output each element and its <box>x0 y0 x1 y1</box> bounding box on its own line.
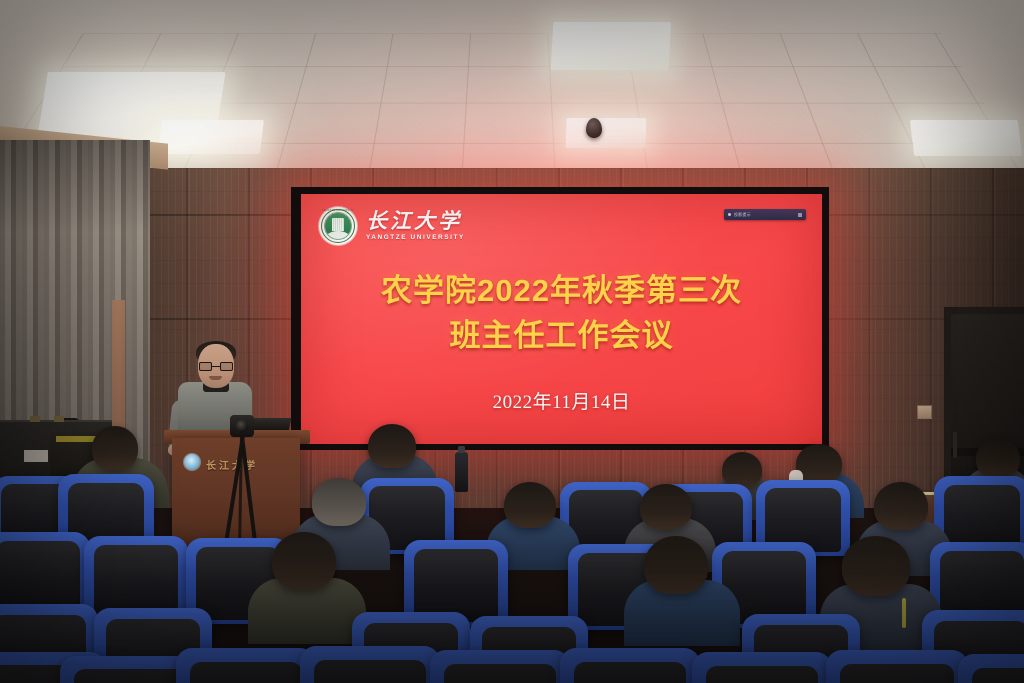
seat-pad <box>74 669 186 683</box>
seat-pad <box>706 666 818 683</box>
audience-head <box>368 424 416 468</box>
lanyard <box>902 598 906 628</box>
ceiling-light-4 <box>158 120 264 154</box>
audience-head <box>842 536 910 596</box>
audience-head <box>644 536 708 594</box>
ceiling-light-3 <box>565 118 646 148</box>
auditorium-seat[interactable] <box>176 648 316 683</box>
speaker-glasses-icon <box>199 362 233 371</box>
seat-pad <box>972 668 1024 683</box>
glasses-bridge <box>212 366 220 367</box>
screen-vignette <box>301 194 822 444</box>
seat-pad <box>190 662 302 683</box>
audience-area <box>0 420 1024 683</box>
audience-head <box>312 478 366 526</box>
glasses-lens-right <box>220 362 233 371</box>
audience-head <box>272 532 336 590</box>
lecture-hall-photo: YANGTZE UNIVERSITY 长江大学 YANGTZE UNIVERSI… <box>0 0 1024 683</box>
glasses-lens-left <box>199 362 212 371</box>
seat-pad <box>314 660 426 683</box>
seat-pad <box>574 662 686 683</box>
audience-head <box>92 426 138 470</box>
light-switch-plate[interactable] <box>917 405 932 419</box>
seat-pad <box>840 664 954 683</box>
seat-pad <box>414 549 497 621</box>
audience-head <box>504 482 556 528</box>
auditorium-seat[interactable] <box>300 646 440 683</box>
ceiling-light-2 <box>551 22 672 70</box>
seat-pad <box>944 485 1021 551</box>
auditorium-seat[interactable] <box>560 648 700 683</box>
audience-head <box>722 452 762 488</box>
dome-security-camera-icon <box>586 118 602 138</box>
water-bottle <box>455 452 468 492</box>
projection-screen: YANGTZE UNIVERSITY 长江大学 YANGTZE UNIVERSI… <box>301 194 822 444</box>
auditorium-seat[interactable] <box>826 650 968 683</box>
audience-head <box>640 484 692 530</box>
ceiling-light-5 <box>910 120 1022 156</box>
seat-pad <box>94 545 177 617</box>
speaker-mouth <box>209 376 222 380</box>
auditorium-seat[interactable] <box>692 652 832 683</box>
seat-pad <box>0 541 80 613</box>
audience-head <box>874 482 928 530</box>
auditorium-seat[interactable] <box>430 650 570 683</box>
seat-pad <box>444 664 556 683</box>
auditorium-seat[interactable] <box>958 654 1024 683</box>
audience-head <box>976 438 1020 478</box>
